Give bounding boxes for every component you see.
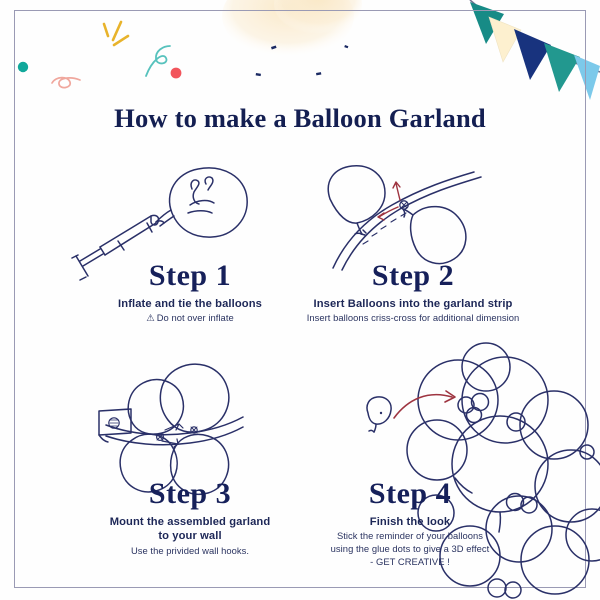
illustration-balloon-cluster-with-wall-hook [99, 364, 243, 494]
placement-arrow [394, 391, 455, 418]
step-2: Step 2 Insert Balloons into the garland … [268, 260, 558, 325]
warning-triangle-icon: ⚠ [146, 312, 154, 325]
step-4-label: Step 4 [265, 478, 555, 510]
step-2-label: Step 2 [268, 260, 558, 292]
insert-direction-arrows [378, 182, 400, 220]
step-1-note-text: Do not over inflate [157, 312, 234, 323]
step-4-caption: Finish the look [265, 515, 555, 530]
step-4-note-line2: using the glue dots to give a 3D effect [265, 543, 555, 556]
step-2-note: Insert balloons criss-cross for addition… [268, 312, 558, 325]
step-2-caption: Insert Balloons into the garland strip [268, 297, 558, 312]
step-4: Step 4 Finish the look Stick the reminde… [265, 478, 555, 568]
poster-canvas: How to make a Balloon Garland [0, 0, 600, 600]
step-4-note-line1: Stick the reminder of your balloons [265, 530, 555, 543]
step-4-note-line3: - GET CREATIVE ! [265, 556, 555, 569]
illustration-balloons-on-garland-strip [328, 166, 481, 270]
